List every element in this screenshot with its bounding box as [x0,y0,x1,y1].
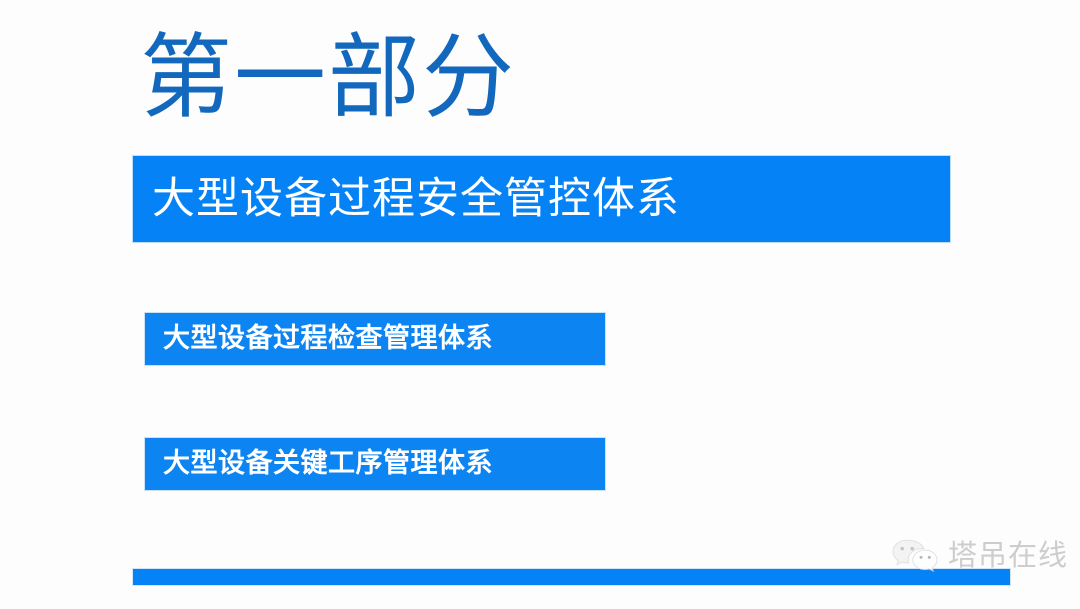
slide-canvas: 第一部分 大型设备过程安全管控体系 大型设备过程检查管理体系 大型设备关键工序管… [0,0,1080,609]
sub-item-label-2: 大型设备关键工序管理体系 [163,447,493,481]
watermark-label: 塔吊在线 [948,538,1068,572]
bottom-accent-rule [133,569,1010,585]
wechat-icon [891,538,939,572]
sub-item-bar-2: 大型设备关键工序管理体系 [145,438,605,490]
watermark: 塔吊在线 [891,538,1068,572]
sub-item-bar-1: 大型设备过程检查管理体系 [145,313,605,365]
sub-item-label-1: 大型设备过程检查管理体系 [163,322,493,356]
main-banner-label: 大型设备过程安全管控体系 [152,174,680,224]
main-banner: 大型设备过程安全管控体系 [133,156,950,242]
page-title: 第一部分 [140,24,516,132]
